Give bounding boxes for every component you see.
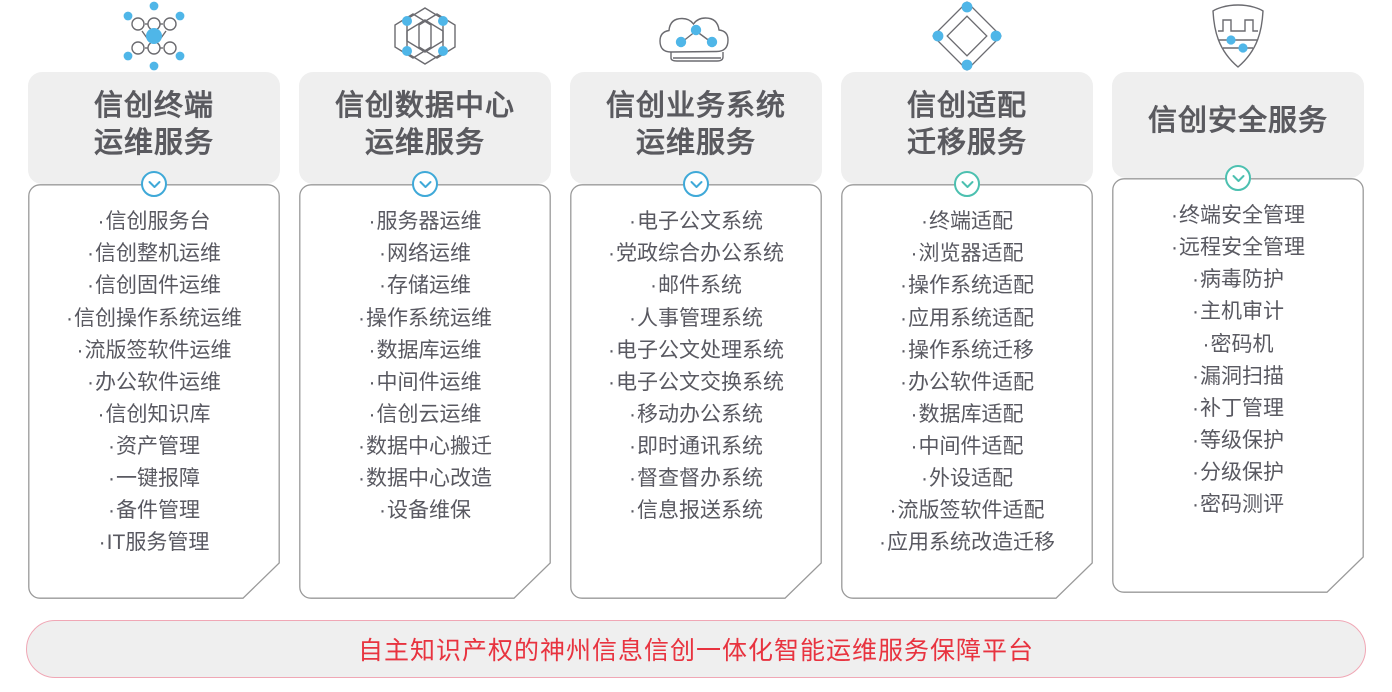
service-item-label: 远程安全管理 [1179,236,1305,259]
service-item-label: 流版签软件运维 [85,339,232,362]
service-item[interactable]: ·中间件适配 [841,431,1093,463]
service-item[interactable]: ·信创整机运维 [28,238,280,270]
bullet-icon: · [900,274,907,297]
service-item-label: 邮件系统 [658,274,742,297]
service-title: 信创数据中心 运维服务 [335,88,515,162]
service-item[interactable]: ·漏洞扫描 [1112,361,1364,393]
service-column-security: 信创安全服务 ·终端安全管理·远程安全管理·病毒防护·主机审计·密码机·漏洞扫描… [1112,0,1364,599]
service-item[interactable]: ·服务器运维 [299,206,551,238]
service-item-label: 网络运维 [387,242,471,265]
service-header-card: 信创终端 运维服务 [28,72,280,184]
service-item[interactable]: ·IT服务管理 [28,527,280,559]
bullet-icon: · [99,531,106,554]
service-item-label: 浏览器适配 [919,242,1024,265]
service-list-card: ·电子公文系统·党政综合办公系统·邮件系统·人事管理系统·电子公文处理系统·电子… [570,184,822,599]
bullet-icon: · [379,242,386,265]
service-item[interactable]: ·密码机 [1112,329,1364,361]
service-item-label: 操作系统迁移 [908,339,1034,362]
service-item-label: 终端安全管理 [1179,204,1305,227]
service-item-label: 信创固件运维 [95,274,221,297]
service-list-card: ·终端适配·浏览器适配·操作系统适配·应用系统适配·操作系统迁移·办公软件适配·… [841,184,1093,599]
service-item[interactable]: ·病毒防护 [1112,264,1364,296]
bullet-icon: · [1192,300,1199,323]
service-item[interactable]: ·移动办公系统 [570,399,822,431]
service-item[interactable]: ·存储运维 [299,270,551,302]
bullet-icon: · [1192,493,1199,516]
service-title: 信创适配 迁移服务 [907,88,1027,162]
service-item[interactable]: ·浏览器适配 [841,238,1093,270]
service-title: 信创安全服务 [1148,103,1328,140]
bullet-icon: · [379,499,386,522]
service-item[interactable]: ·补丁管理 [1112,393,1364,425]
service-item[interactable]: ·终端适配 [841,206,1093,238]
bullet-icon: · [379,274,386,297]
service-item-label: 一键报障 [116,467,200,490]
bullet-icon: · [879,531,886,554]
service-item-label: IT服务管理 [107,531,210,554]
service-item-label: 分级保护 [1200,461,1284,484]
starburst-nodes-icon [28,0,280,72]
bullet-icon: · [921,467,928,490]
service-item-label: 办公软件适配 [908,371,1034,394]
service-item-label: 流版签软件适配 [898,499,1045,522]
service-item[interactable]: ·主机审计 [1112,296,1364,328]
service-item-label: 服务器运维 [377,210,482,233]
bullet-icon: · [650,274,657,297]
service-item[interactable]: ·操作系统适配 [841,270,1093,302]
service-item-label: 操作系统适配 [908,274,1034,297]
service-item-label: 中间件运维 [377,371,482,394]
service-item[interactable]: ·电子公文交换系统 [570,367,822,399]
service-item-label: 中间件适配 [919,435,1024,458]
diamond-nodes-icon [841,0,1093,72]
service-header-card: 信创业务系统 运维服务 [570,72,822,184]
service-item-label: 数据库适配 [919,403,1024,426]
service-item[interactable]: ·密码测评 [1112,489,1364,521]
bullet-icon: · [108,499,115,522]
service-item-label: 应用系统适配 [908,307,1034,330]
service-header-card: 信创适配 迁移服务 [841,72,1093,184]
service-item-label: 信创服务台 [106,210,211,233]
platform-banner: 自主知识产权的神州信息信创一体化智能运维服务保障平台 [26,620,1366,678]
service-list-card: ·终端安全管理·远程安全管理·病毒防护·主机审计·密码机·漏洞扫描·补丁管理·等… [1112,178,1364,593]
service-item[interactable]: ·人事管理系统 [570,303,822,335]
bullet-icon: · [1192,429,1199,452]
hexagon-cluster-icon [299,0,551,72]
chevron-down-icon[interactable] [1225,165,1251,191]
service-item-label: 电子公文系统 [637,210,763,233]
service-header-card: 信创数据中心 运维服务 [299,72,551,184]
service-item-label: 密码测评 [1200,493,1284,516]
service-item-label: 操作系统运维 [366,307,492,330]
service-item-label: 电子公文处理系统 [616,339,784,362]
service-item-label: 漏洞扫描 [1200,365,1284,388]
service-item-label: 信创知识库 [106,403,211,426]
service-item-label: 数据中心搬迁 [366,435,492,458]
service-item[interactable]: ·操作系统运维 [299,303,551,335]
service-item-label: 外设适配 [929,467,1013,490]
bullet-icon: · [98,210,105,233]
service-item-label: 人事管理系统 [637,307,763,330]
service-item[interactable]: ·备件管理 [28,495,280,527]
bullet-icon: · [629,435,636,458]
service-item[interactable]: ·应用系统改造迁移 [841,527,1093,559]
shield-circuit-icon [1112,0,1364,72]
bullet-icon: · [108,467,115,490]
bullet-icon: · [98,403,105,426]
bullet-icon: · [1192,461,1199,484]
service-item-label: 应用系统改造迁移 [887,531,1055,554]
service-item[interactable]: ·流版签软件适配 [841,495,1093,527]
service-header-card: 信创安全服务 [1112,72,1364,178]
service-item[interactable]: ·终端安全管理 [1112,200,1364,232]
service-item[interactable]: ·电子公文系统 [570,206,822,238]
bullet-icon: · [369,210,376,233]
service-item[interactable]: ·督查督办系统 [570,463,822,495]
bullet-icon: · [108,435,115,458]
bullet-icon: · [900,307,907,330]
bullet-icon: · [629,467,636,490]
bullet-icon: · [900,371,907,394]
service-item-list: ·电子公文系统·党政综合办公系统·邮件系统·人事管理系统·电子公文处理系统·电子… [570,206,822,527]
service-item-label: 病毒防护 [1200,268,1284,291]
service-item[interactable]: ·数据库运维 [299,335,551,367]
service-item[interactable]: ·设备维保 [299,495,551,527]
bullet-icon: · [1171,236,1178,259]
bullet-icon: · [1192,397,1199,420]
service-item[interactable]: ·数据库适配 [841,399,1093,431]
bullet-icon: · [608,339,615,362]
bullet-icon: · [629,499,636,522]
cloud-network-icon [570,0,822,72]
service-column-datacenter: 信创数据中心 运维服务 ·服务器运维·网络运维·存储运维·操作系统运维·数据库运… [299,0,551,599]
service-item-list: ·终端适配·浏览器适配·操作系统适配·应用系统适配·操作系统迁移·办公软件适配·… [841,206,1093,559]
bullet-icon: · [608,371,615,394]
service-item[interactable]: ·信创固件运维 [28,270,280,302]
bullet-icon: · [629,403,636,426]
service-item[interactable]: ·数据中心搬迁 [299,431,551,463]
service-item-label: 党政综合办公系统 [616,242,784,265]
service-list-card: ·服务器运维·网络运维·存储运维·操作系统运维·数据库运维·中间件运维·信创云运… [299,184,551,599]
service-item[interactable]: ·应用系统适配 [841,303,1093,335]
bullet-icon: · [890,499,897,522]
service-item-label: 即时通讯系统 [637,435,763,458]
bullet-icon: · [77,339,84,362]
service-column-adaptation: 信创适配 迁移服务 ·终端适配·浏览器适配·操作系统适配·应用系统适配·操作系统… [841,0,1093,599]
service-columns: 信创终端 运维服务 ·信创服务台·信创整机运维·信创固件运维·信创操作系统运维·… [0,0,1392,599]
service-item-label: 终端适配 [929,210,1013,233]
service-list-card: ·信创服务台·信创整机运维·信创固件运维·信创操作系统运维·流版签软件运维·办公… [28,184,280,599]
service-architecture-diagram: 信创终端 运维服务 ·信创服务台·信创整机运维·信创固件运维·信创操作系统运维·… [0,0,1392,692]
bullet-icon: · [1203,333,1210,356]
service-item[interactable]: ·办公软件运维 [28,367,280,399]
bullet-icon: · [1192,268,1199,291]
service-item[interactable]: ·信创知识库 [28,399,280,431]
service-item[interactable]: ·电子公文处理系统 [570,335,822,367]
service-item[interactable]: ·分级保护 [1112,457,1364,489]
service-item[interactable]: ·一键报障 [28,463,280,495]
service-item[interactable]: ·信创操作系统运维 [28,303,280,335]
service-item-label: 设备维保 [387,499,471,522]
service-item-list: ·终端安全管理·远程安全管理·病毒防护·主机审计·密码机·漏洞扫描·补丁管理·等… [1112,200,1364,521]
bullet-icon: · [87,242,94,265]
service-column-business: 信创业务系统 运维服务 ·电子公文系统·党政综合办公系统·邮件系统·人事管理系统… [570,0,822,599]
bullet-icon: · [911,242,918,265]
service-item-label: 等级保护 [1200,429,1284,452]
service-item[interactable]: ·信创云运维 [299,399,551,431]
service-item[interactable]: ·操作系统迁移 [841,335,1093,367]
service-item[interactable]: ·资产管理 [28,431,280,463]
bullet-icon: · [1171,204,1178,227]
service-item-label: 信创操作系统运维 [74,307,242,330]
service-item[interactable]: ·外设适配 [841,463,1093,495]
bullet-icon: · [921,210,928,233]
bullet-icon: · [358,307,365,330]
service-item-label: 备件管理 [116,499,200,522]
service-item[interactable]: ·信创服务台 [28,206,280,238]
service-item-label: 办公软件运维 [95,371,221,394]
bullet-icon: · [900,339,907,362]
bullet-icon: · [369,403,376,426]
service-item-label: 督查督办系统 [637,467,763,490]
bullet-icon: · [87,274,94,297]
service-item-label: 资产管理 [116,435,200,458]
service-item[interactable]: ·等级保护 [1112,425,1364,457]
bullet-icon: · [911,403,918,426]
service-item[interactable]: ·即时通讯系统 [570,431,822,463]
platform-banner-text: 自主知识产权的神州信息信创一体化智能运维服务保障平台 [358,631,1034,667]
bullet-icon: · [369,371,376,394]
service-item-label: 主机审计 [1200,300,1284,323]
service-item[interactable]: ·中间件运维 [299,367,551,399]
service-item-label: 信息报送系统 [637,499,763,522]
service-item[interactable]: ·信息报送系统 [570,495,822,527]
service-item-list: ·服务器运维·网络运维·存储运维·操作系统运维·数据库运维·中间件运维·信创云运… [299,206,551,527]
service-column-terminal: 信创终端 运维服务 ·信创服务台·信创整机运维·信创固件运维·信创操作系统运维·… [28,0,280,599]
service-item-label: 密码机 [1211,333,1274,356]
service-item[interactable]: ·远程安全管理 [1112,232,1364,264]
service-item[interactable]: ·数据中心改造 [299,463,551,495]
service-item-label: 信创云运维 [377,403,482,426]
service-item[interactable]: ·党政综合办公系统 [570,238,822,270]
service-item-label: 信创整机运维 [95,242,221,265]
service-item-label: 补丁管理 [1200,397,1284,420]
service-item-list: ·信创服务台·信创整机运维·信创固件运维·信创操作系统运维·流版签软件运维·办公… [28,206,280,559]
service-item-label: 数据中心改造 [366,467,492,490]
bullet-icon: · [1192,365,1199,388]
service-item-label: 数据库运维 [377,339,482,362]
bullet-icon: · [369,339,376,362]
service-item[interactable]: ·办公软件适配 [841,367,1093,399]
service-item-label: 存储运维 [387,274,471,297]
service-item[interactable]: ·网络运维 [299,238,551,270]
bullet-icon: · [358,467,365,490]
service-title: 信创终端 运维服务 [94,88,214,162]
bullet-icon: · [608,242,615,265]
bullet-icon: · [66,307,73,330]
bullet-icon: · [358,435,365,458]
bullet-icon: · [911,435,918,458]
service-item-label: 电子公文交换系统 [616,371,784,394]
service-item[interactable]: ·流版签软件运维 [28,335,280,367]
service-title: 信创业务系统 运维服务 [606,88,786,162]
bullet-icon: · [629,307,636,330]
service-item-label: 移动办公系统 [637,403,763,426]
bullet-icon: · [629,210,636,233]
bullet-icon: · [87,371,94,394]
service-item[interactable]: ·邮件系统 [570,270,822,302]
